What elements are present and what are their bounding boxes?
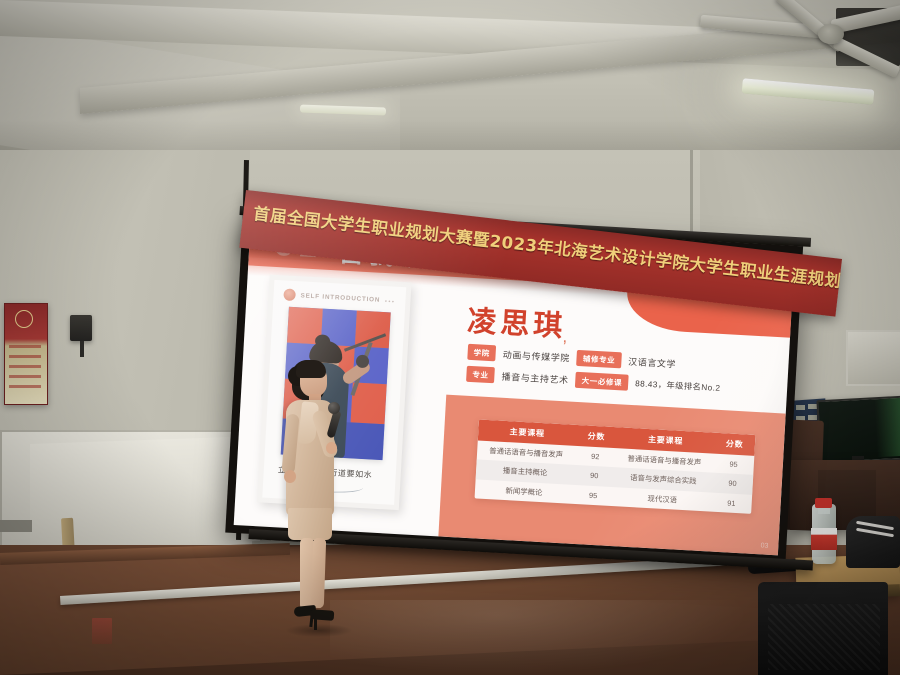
poster-text-line (9, 385, 41, 388)
presenter-hem (288, 508, 332, 540)
courses-table: 主要课程 分数 主要课程 分数 普通话语音与播音发声 92 普通话语音与播音发声… (475, 419, 756, 513)
slide-page-number: 03 (760, 542, 768, 549)
presenter (278, 358, 354, 644)
monitor-glow (874, 398, 900, 457)
cell-score: 95 (713, 454, 755, 475)
ceiling-fan-hub (818, 24, 844, 44)
value-major: 播音与主持艺术 (501, 369, 569, 386)
presenter-shadow (286, 624, 352, 637)
label-minor: 辅修专业 (577, 350, 622, 368)
poster-emblem-icon (15, 310, 33, 328)
name-punctuation: , (562, 327, 568, 347)
lecture-hall-photo: 01 自我认知 SELF INTRODUCTION ••• (0, 0, 900, 675)
bottle-label (811, 528, 837, 550)
presenter-right-hand (326, 442, 337, 454)
label-major: 专业 (466, 366, 495, 384)
value-minor: 汉语言文学 (628, 354, 677, 370)
speaker-mount (80, 341, 84, 357)
card-header: SELF INTRODUCTION (283, 288, 380, 305)
board-cell (808, 415, 817, 420)
side-desk (0, 520, 32, 532)
presenter-hair-front (296, 360, 326, 378)
table-header-score-1: 分数 (576, 425, 618, 448)
floor-reflection (330, 600, 750, 675)
value-gpa-rank: 88.43，年级排名No.2 (635, 377, 721, 394)
info-row-major: 专业 播音与主持艺术 大一必修课 88.43，年级排名No.2 (466, 366, 721, 396)
cell-score: 92 (575, 446, 617, 467)
more-options-icon: ••• (385, 299, 396, 306)
office-chair-mesh (768, 604, 880, 670)
wall-speaker-icon (70, 315, 92, 341)
microphone-head-icon (328, 402, 340, 414)
presenter-shoe-heel (314, 618, 317, 630)
poster-text-line (9, 345, 41, 348)
presenter-name: 凌思琪 (466, 298, 567, 345)
presenter-left-hand (284, 470, 296, 483)
floor-marking (92, 618, 112, 644)
board-cell (796, 405, 805, 410)
computer-monitor (816, 396, 900, 464)
label-college: 学院 (467, 344, 496, 362)
cell-score: 91 (711, 492, 753, 513)
cell-score: 90 (712, 473, 754, 494)
avatar (283, 288, 296, 301)
card-header-label: SELF INTRODUCTION (300, 292, 380, 303)
value-college: 动画与传媒学院 (503, 347, 571, 364)
bottle-cap (815, 498, 832, 508)
cell-score: 95 (572, 484, 614, 505)
label-required-courses: 大一必修课 (575, 372, 628, 391)
cell-score: 90 (573, 465, 615, 486)
table-header-score-2: 分数 (714, 433, 756, 456)
wall-vent (846, 330, 900, 386)
presenter-leg (311, 538, 326, 608)
poster-text-line (9, 355, 41, 358)
poster-text-line (9, 365, 41, 368)
poster-text-line (9, 375, 41, 378)
